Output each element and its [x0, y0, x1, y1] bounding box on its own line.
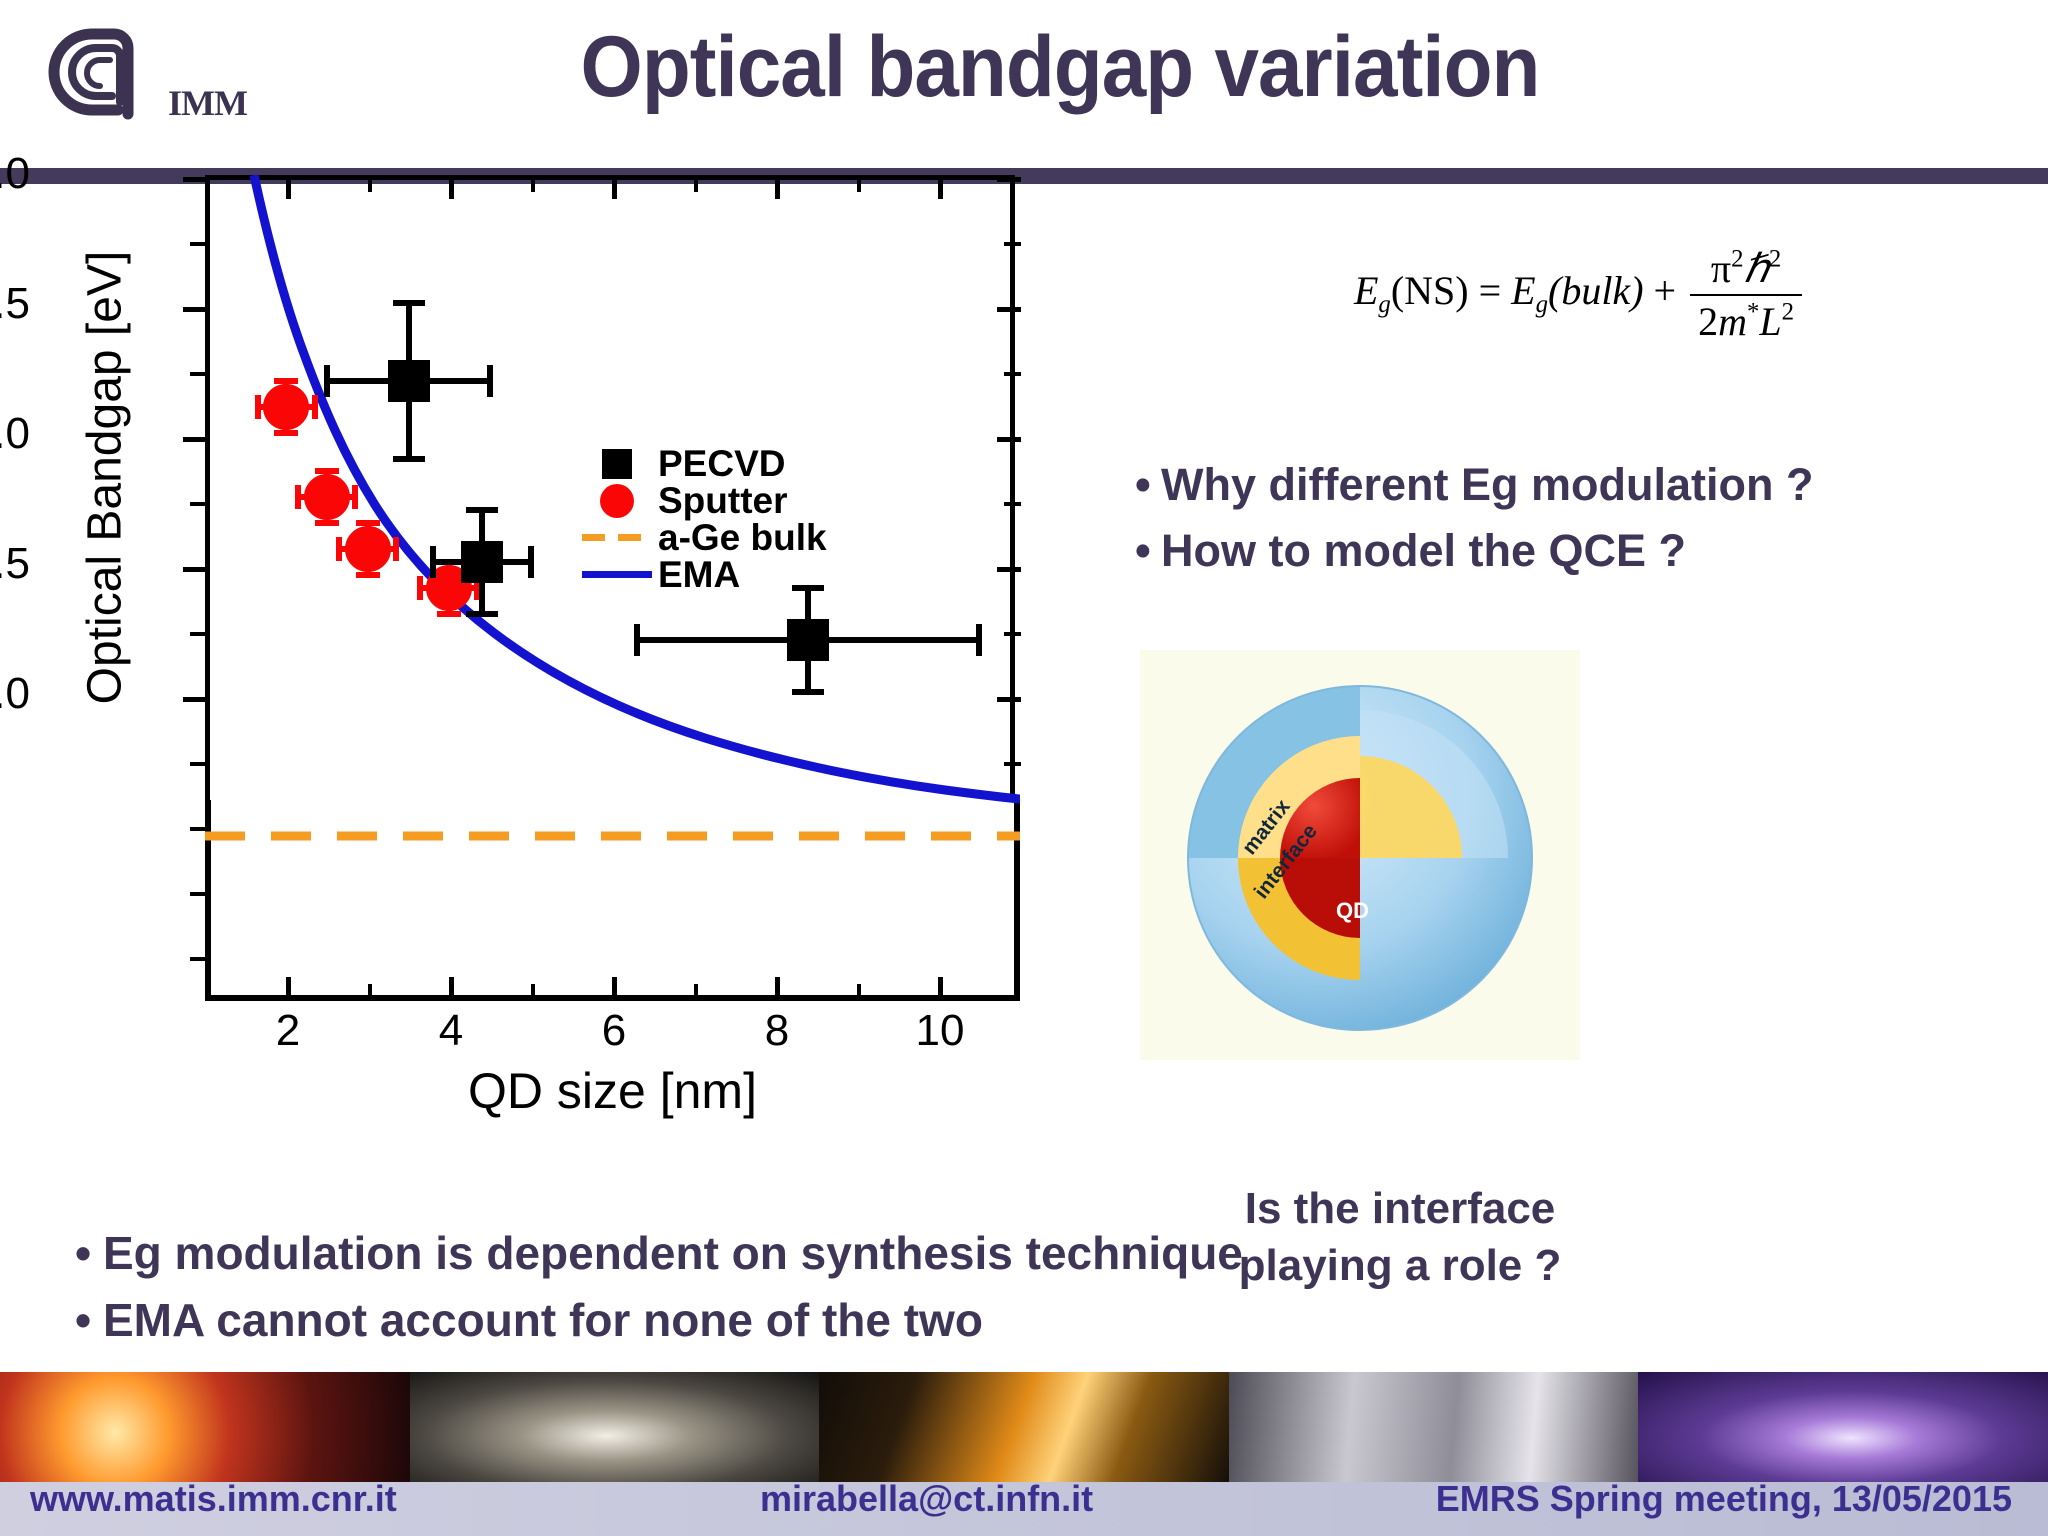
x-tick-label-2: 2 — [238, 1006, 338, 1056]
y-tick-minor — [190, 957, 207, 961]
logo-label: IMM — [168, 82, 247, 124]
y-tick-2.0 — [183, 437, 207, 442]
x-tick-top — [775, 175, 780, 199]
legend-label-pecvd: PECVD — [658, 443, 785, 485]
y-tick-label-3.0: 3.0 — [0, 152, 30, 196]
y-tick-label-2.5: 2.5 — [0, 282, 30, 326]
sputter-marker-icon — [580, 482, 658, 519]
pecvd-marker-icon — [580, 445, 658, 482]
y-tick-minor — [190, 372, 207, 376]
x-tick-top — [857, 175, 861, 192]
qd-diagram-icon: matrix interface QD — [1140, 650, 1580, 1060]
eq-bulk: (bulk) — [1548, 268, 1644, 313]
bottom-bullet-text: EMA cannot account for none of the two — [103, 1287, 983, 1354]
y-tick-right — [1004, 632, 1021, 636]
x-tick-top — [449, 175, 454, 199]
eq-ns: (NS) — [1391, 268, 1469, 313]
bandgap-chart: 3.0 2.5 2.0 1.5 1.0 2 4 6 8 10 Optical B… — [40, 200, 1060, 1120]
eq-denominator: 2m*L2 — [1690, 296, 1802, 345]
bullet-icon: • — [75, 1220, 103, 1287]
x-tick-minor — [857, 984, 861, 1001]
y-tick-right — [1004, 762, 1021, 766]
x-tick-10 — [938, 977, 943, 1001]
right-bullet-item: • How to model the QCE ? — [1135, 521, 2035, 581]
pecvd-point — [327, 303, 490, 459]
legend-item-pecvd: PECVD — [580, 445, 910, 482]
eq-numerator: π2ℏ2 — [1690, 245, 1802, 296]
legend-label-age-bulk: a-Ge bulk — [658, 517, 827, 559]
eq-Eg-lhs: Eg — [1354, 268, 1391, 313]
x-tick-label-6: 6 — [564, 1006, 664, 1056]
cnr-spiral-logo-icon — [40, 24, 170, 120]
bottom-bullet-item: • Eg modulation is dependent on synthesi… — [75, 1220, 1375, 1287]
slide-header: IMM Optical bandgap variation — [0, 0, 2048, 168]
y-tick-minor — [190, 632, 207, 636]
legend-item-age-bulk: a-Ge bulk — [580, 519, 910, 556]
y-tick-right — [997, 437, 1021, 442]
y-tick-minor — [190, 502, 207, 506]
eq-equals: = — [1479, 268, 1502, 313]
bottom-bullet-text: Eg modulation is dependent on synthesis … — [103, 1220, 1243, 1287]
page-title: Optical bandgap variation — [353, 18, 1767, 117]
y-tick-1.0 — [183, 697, 207, 702]
x-tick-minor — [368, 984, 372, 1001]
sputter-point — [298, 471, 355, 523]
y-tick-2.5 — [183, 307, 207, 312]
y-tick-minor — [190, 827, 207, 831]
y-tick-right — [1004, 242, 1021, 246]
x-tick-top — [286, 175, 291, 199]
x-tick-label-10: 10 — [890, 1006, 990, 1056]
bullet-icon: • — [75, 1287, 103, 1354]
right-question-bullets: • Why different Eg modulation ? • How to… — [1135, 455, 2035, 587]
footer-email-link[interactable]: mirabella@ct.infn.it — [760, 1478, 1093, 1520]
x-tick-top — [531, 175, 535, 192]
eq-Eg-rhs: Eg — [1511, 268, 1548, 313]
y-tick-3.0 — [183, 177, 207, 182]
y-tick-right — [1004, 372, 1021, 376]
legend-label-ema: EMA — [658, 554, 740, 596]
x-tick-top — [938, 175, 943, 199]
x-tick-minor — [694, 984, 698, 1001]
x-tick-top — [612, 175, 617, 199]
qd-label-qd: QD — [1336, 898, 1369, 923]
x-tick-label-8: 8 — [727, 1006, 827, 1056]
y-tick-right — [997, 567, 1021, 572]
bullet-icon: • — [1135, 521, 1161, 581]
sputter-point — [258, 381, 315, 433]
footer-meeting-info: EMRS Spring meeting, 13/05/2015 — [1436, 1478, 2012, 1520]
x-tick-minor — [531, 984, 535, 1001]
right-bullet-text: Why different Eg modulation ? — [1161, 455, 2035, 515]
imm-cnr-logo: IMM — [40, 24, 240, 120]
legend-item-ema: EMA — [580, 556, 910, 593]
conclusion-bullets: • Eg modulation is dependent on synthesi… — [75, 1220, 1375, 1353]
y-tick-right — [1004, 502, 1021, 506]
eq-plus: + — [1654, 268, 1677, 313]
qd-core-shell-figure: matrix interface QD — [1140, 650, 1580, 1060]
y-tick-right — [997, 697, 1021, 702]
x-tick-label-4: 4 — [401, 1006, 501, 1056]
y-tick-right — [997, 307, 1021, 312]
x-tick-top — [694, 175, 698, 192]
y-tick-label-1.5: 1.5 — [0, 542, 30, 586]
right-bullet-item: • Why different Eg modulation ? — [1135, 455, 2035, 515]
x-tick-2 — [286, 977, 291, 1001]
y-tick-minor — [190, 242, 207, 246]
pecvd-point — [637, 588, 979, 692]
bandgap-equation: Eg(NS) = Eg(bulk) + π2ℏ2 2m*L2 — [1140, 245, 2020, 345]
footer-website-link[interactable]: www.matis.imm.cnr.it — [30, 1478, 397, 1520]
eq-fraction: π2ℏ2 2m*L2 — [1690, 245, 1802, 345]
x-tick-4 — [449, 977, 454, 1001]
y-tick-label-2.0: 2.0 — [0, 412, 30, 456]
dashed-line-icon — [580, 519, 658, 556]
x-axis-title: QD size [nm] — [205, 1062, 1020, 1120]
y-tick-minor — [190, 762, 207, 766]
y-tick-label-1.0: 1.0 — [0, 672, 30, 716]
legend-item-sputter: Sputter — [580, 482, 910, 519]
y-tick-right — [997, 177, 1021, 182]
bottom-bullet-item: • EMA cannot account for none of the two — [75, 1287, 1375, 1354]
legend-label-sputter: Sputter — [658, 480, 788, 522]
x-tick-8 — [775, 977, 780, 1001]
bullet-icon: • — [1135, 455, 1161, 515]
solid-line-icon — [580, 556, 658, 593]
y-tick-minor — [190, 892, 207, 896]
x-tick-6 — [612, 977, 617, 1001]
x-tick-top — [368, 175, 372, 192]
chart-legend: PECVD Sputter a-Ge bulk EMA — [580, 445, 910, 593]
footer-text-row: www.matis.imm.cnr.it mirabella@ct.infn.i… — [0, 1462, 2048, 1536]
y-tick-1.5 — [183, 567, 207, 572]
y-axis-title: Optical Bandgap [eV] — [78, 148, 133, 808]
right-bullet-text: How to model the QCE ? — [1161, 521, 2035, 581]
